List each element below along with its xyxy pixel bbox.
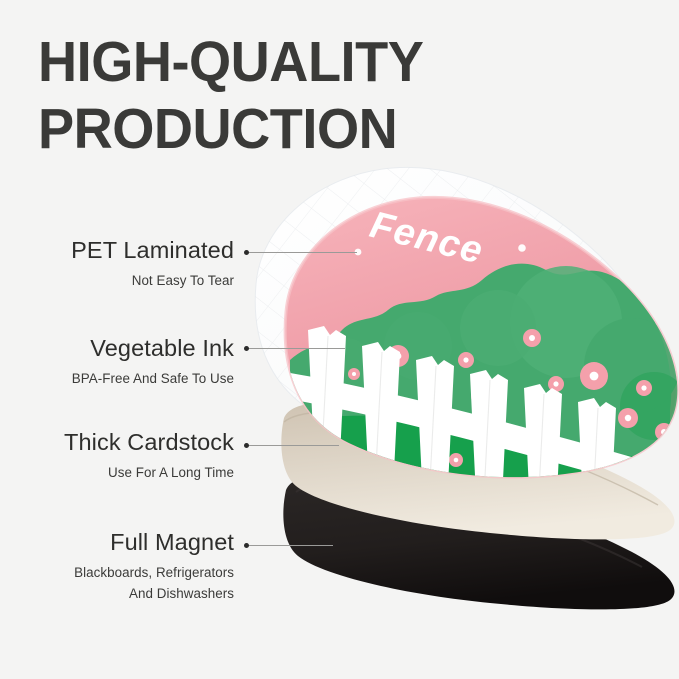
feature-subtitle: Use For A Long Time bbox=[22, 463, 234, 484]
leader-line-pet-laminated bbox=[245, 252, 357, 253]
leader-line-vegetable-ink bbox=[245, 348, 345, 349]
product-illustration: Fence bbox=[250, 160, 679, 630]
leader-line-thick-cardstock bbox=[245, 445, 339, 446]
feature-title: PET Laminated bbox=[22, 238, 234, 264]
label-dot-icon bbox=[518, 244, 526, 252]
feature-subtitle: BPA-Free And Safe To Use bbox=[22, 369, 234, 390]
leader-line-full-magnet bbox=[245, 545, 333, 546]
feature-vegetable-ink: Vegetable Ink BPA-Free And Safe To Use bbox=[22, 336, 234, 390]
feature-subtitle: Blackboards, Refrigerators And Dishwashe… bbox=[22, 563, 234, 605]
page-title: HIGH-QUALITY PRODUCTION bbox=[38, 29, 570, 164]
feature-thick-cardstock: Thick Cardstock Use For A Long Time bbox=[22, 430, 234, 484]
feature-title: Full Magnet bbox=[22, 530, 234, 556]
feature-title: Thick Cardstock bbox=[22, 430, 234, 456]
product-feature-infographic: HIGH-QUALITY PRODUCTION bbox=[0, 0, 679, 679]
feature-pet-laminated: PET Laminated Not Easy To Tear bbox=[22, 238, 234, 292]
feature-title: Vegetable Ink bbox=[22, 336, 234, 362]
feature-full-magnet: Full Magnet Blackboards, Refrigerators A… bbox=[22, 530, 234, 604]
feature-subtitle: Not Easy To Tear bbox=[22, 271, 234, 292]
